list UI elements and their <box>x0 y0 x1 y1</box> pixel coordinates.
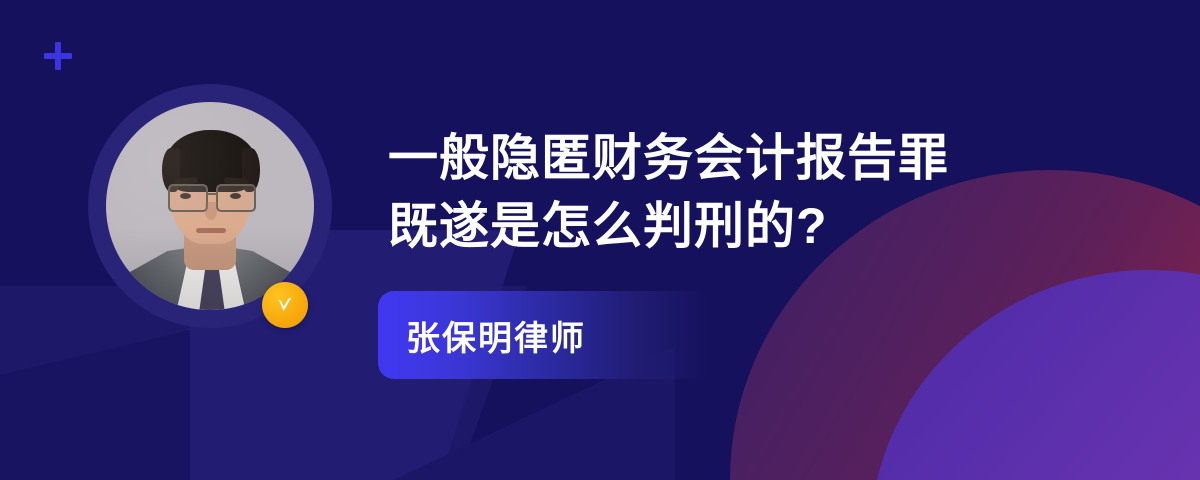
portrait-shading <box>106 102 314 310</box>
plus-icon <box>44 42 72 70</box>
avatar-photo <box>106 102 314 310</box>
lawyer-question-banner: 一般隐匿财务会计报告罪 既遂是怎么判刑的? 张保明律师 <box>0 0 1200 480</box>
verified-check-icon <box>262 282 308 328</box>
lawyer-name-label: 张保明律师 <box>378 311 586 360</box>
lawyer-name-badge[interactable]: 张保明律师 <box>378 291 712 379</box>
avatar <box>88 84 332 328</box>
portrait-illustration <box>106 102 314 310</box>
page-title: 一般隐匿财务会计报告罪 既遂是怎么判刑的? <box>388 124 1088 260</box>
content-block: 一般隐匿财务会计报告罪 既遂是怎么判刑的? <box>388 124 1088 260</box>
